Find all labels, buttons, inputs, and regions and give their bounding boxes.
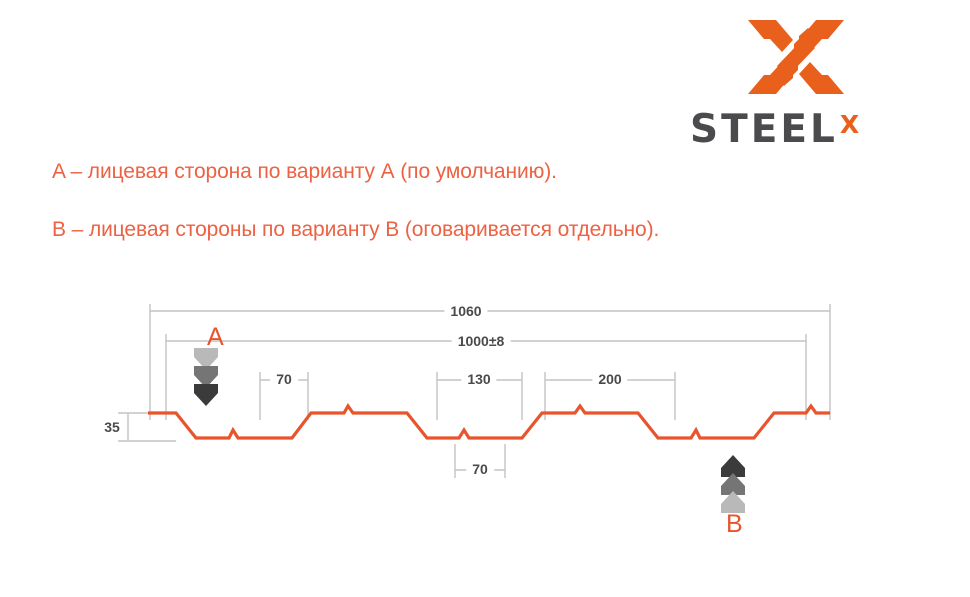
dimension-rib-pitch-large: 200 <box>592 372 627 386</box>
dimension-extension-lines <box>118 304 830 478</box>
profile-technical-drawing: 1060 1000±8 70 130 200 70 35 A B <box>0 0 970 597</box>
marker-label-b: B <box>726 512 743 537</box>
dimension-profile-height: 35 <box>98 420 126 434</box>
dimension-overall-width: 1060 <box>444 304 487 318</box>
dimension-rib-pitch-small: 130 <box>461 372 496 386</box>
sheet-profile-outline <box>148 406 830 438</box>
chevron-down-triple-icon <box>194 348 218 406</box>
chevron-up-triple-icon <box>721 455 745 513</box>
dimension-cover-width: 1000±8 <box>452 334 511 348</box>
dimension-rib-bottom-width: 70 <box>466 462 494 476</box>
dimension-rib-top-width: 70 <box>270 372 298 386</box>
marker-label-a: A <box>207 325 224 350</box>
